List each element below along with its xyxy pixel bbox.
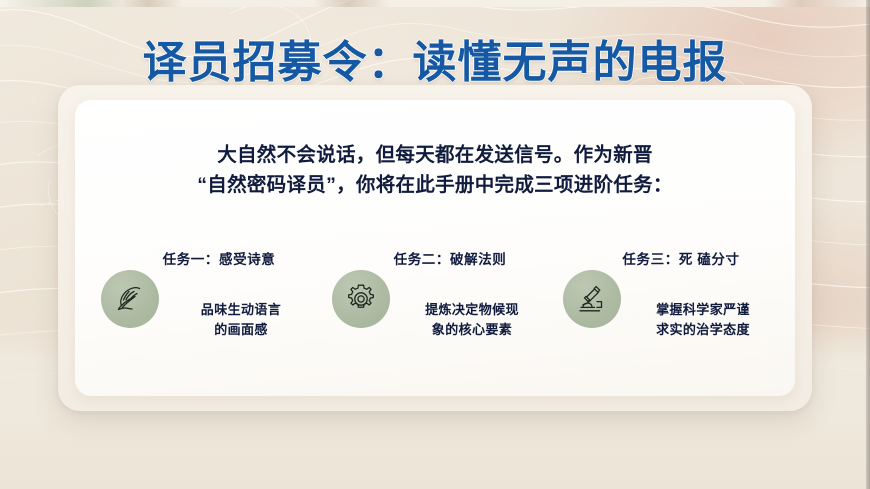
task-item-1: 任务一：感受诗意 品味生动语言 的画面感 bbox=[95, 248, 317, 368]
gear-icon bbox=[344, 282, 378, 316]
task-item-3: 任务三：死 磕分寸 掌握科学家严谨 求 bbox=[557, 248, 779, 368]
microscope-icon bbox=[575, 282, 609, 316]
task-1-title: 任务一：感受诗意 bbox=[95, 248, 317, 268]
task-1-icon-badge bbox=[101, 270, 159, 328]
task-1-desc-line-2: 的画面感 bbox=[165, 320, 317, 340]
page-title: 译员招募令：读懂无声的电报 bbox=[0, 26, 870, 90]
task-2-desc-line-1: 提炼决定物候现 bbox=[396, 300, 548, 320]
task-2-description: 提炼决定物候现 象的核心要素 bbox=[396, 300, 548, 340]
intro-line-1: 大自然不会说话，但每天都在发送信号。作为新晋 bbox=[95, 140, 775, 170]
task-2-desc-line-2: 象的核心要素 bbox=[396, 320, 548, 340]
task-3-description: 掌握科学家严谨 求实的治学态度 bbox=[627, 300, 779, 340]
task-1-description: 品味生动语言 的画面感 bbox=[165, 300, 317, 340]
intro-line-2: “自然密码译员”，你将在此手册中完成三项进阶任务： bbox=[95, 170, 775, 200]
task-3-title: 任务三：死 磕分寸 bbox=[557, 248, 779, 268]
task-3-desc-line-2: 求实的治学态度 bbox=[627, 320, 779, 340]
feather-icon bbox=[113, 282, 147, 316]
task-2-title: 任务二：破解法则 bbox=[326, 248, 548, 268]
task-item-2: 任务二：破解法则 提炼决定物候现 象的核心要素 bbox=[326, 248, 548, 368]
cropped-top-strip bbox=[0, 0, 870, 7]
task-list: 任务一：感受诗意 品味生动语言 的画面感 任务二：破解法则 bbox=[95, 248, 779, 368]
task-1-desc-line-1: 品味生动语言 bbox=[165, 300, 317, 320]
task-2-icon-badge bbox=[332, 270, 390, 328]
slide-canvas: 译员招募令：读懂无声的电报 大自然不会说话，但每天都在发送信号。作为新晋 “自然… bbox=[0, 0, 870, 489]
task-3-icon-badge bbox=[563, 270, 621, 328]
intro-paragraph: 大自然不会说话，但每天都在发送信号。作为新晋 “自然密码译员”，你将在此手册中完… bbox=[95, 140, 775, 200]
task-3-desc-line-1: 掌握科学家严谨 bbox=[627, 300, 779, 320]
